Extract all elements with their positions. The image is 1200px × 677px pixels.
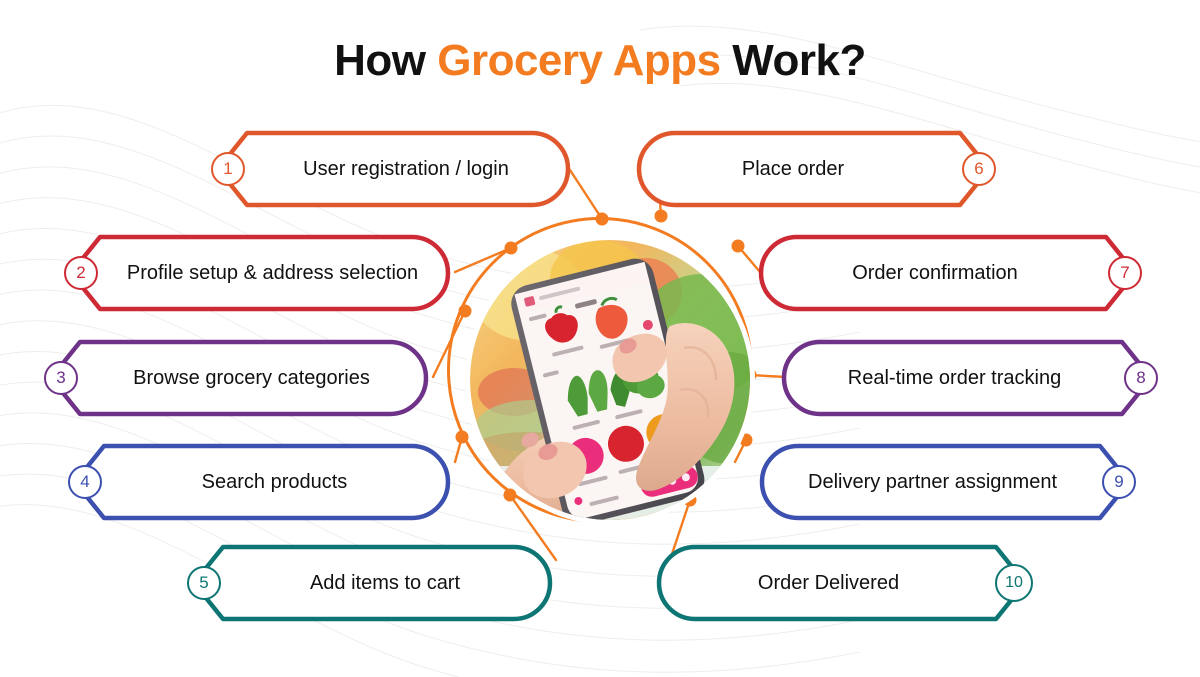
title-part-2: Work?: [721, 36, 866, 85]
step-box-7[interactable]: 7 Order confirmation: [758, 234, 1138, 312]
step-box-2[interactable]: 2 Profile setup & address selection: [68, 234, 451, 312]
step-7-number: 7: [1120, 263, 1129, 283]
step-8-number: 8: [1136, 368, 1145, 388]
ring-node-6: [655, 210, 668, 223]
step-box-5[interactable]: 5 Add items to cart: [191, 544, 553, 622]
step-2-badge: 2: [64, 256, 98, 290]
step-9-badge: 9: [1102, 465, 1136, 499]
center-photo-hands-holding-phone: [470, 240, 750, 520]
connector-line-4: [455, 437, 462, 462]
step-9-label: Delivery partner assignment: [775, 443, 1090, 521]
connector-line-1: [570, 170, 602, 219]
connector-line-9: [735, 440, 746, 462]
step-8-label: Real-time order tracking: [797, 339, 1112, 417]
page-title: How Grocery Apps Work?: [0, 36, 1200, 86]
step-5-badge: 5: [187, 566, 221, 600]
connector-line-7: [738, 246, 760, 272]
step-3-label: Browse grocery categories: [90, 339, 413, 417]
step-6-label: Place order: [636, 130, 950, 208]
step-3-badge: 3: [44, 361, 78, 395]
step-6-badge: 6: [962, 152, 996, 186]
step-box-3[interactable]: 3 Browse grocery categories: [48, 339, 429, 417]
step-box-9[interactable]: 9 Delivery partner assignment: [759, 443, 1132, 521]
step-box-6[interactable]: 6 Place order: [620, 130, 992, 208]
step-5-number: 5: [199, 573, 208, 593]
step-box-8[interactable]: 8 Real-time order tracking: [781, 339, 1154, 417]
title-accent: Grocery Apps: [437, 36, 720, 85]
step-5-label: Add items to cart: [233, 544, 537, 622]
step-10-number: 10: [1005, 574, 1023, 592]
title-part-1: How: [334, 36, 437, 85]
step-box-10[interactable]: 10 Order Delivered: [654, 544, 1029, 622]
ring-node-7: [732, 240, 745, 253]
step-7-badge: 7: [1108, 256, 1142, 290]
step-4-label: Search products: [114, 443, 435, 521]
step-6-number: 6: [974, 159, 983, 179]
step-2-label: Profile setup & address selection: [110, 234, 435, 312]
step-4-badge: 4: [68, 465, 102, 499]
step-2-number: 2: [76, 263, 85, 283]
step-1-badge: 1: [211, 152, 245, 186]
step-box-1[interactable]: 1 User registration / login: [215, 130, 571, 208]
step-9-number: 9: [1114, 472, 1123, 492]
step-4-number: 4: [80, 472, 89, 492]
step-1-label: User registration / login: [257, 130, 555, 208]
step-10-badge: 10: [995, 564, 1033, 602]
step-1-number: 1: [223, 159, 232, 179]
infographic-canvas: How Grocery Apps Work?: [0, 0, 1200, 677]
step-7-label: Order confirmation: [774, 234, 1096, 312]
step-3-number: 3: [56, 368, 65, 388]
step-box-4[interactable]: 4 Search products: [72, 443, 451, 521]
ring-node-9: [740, 434, 753, 447]
step-10-label: Order Delivered: [670, 544, 987, 622]
step-8-badge: 8: [1124, 361, 1158, 395]
